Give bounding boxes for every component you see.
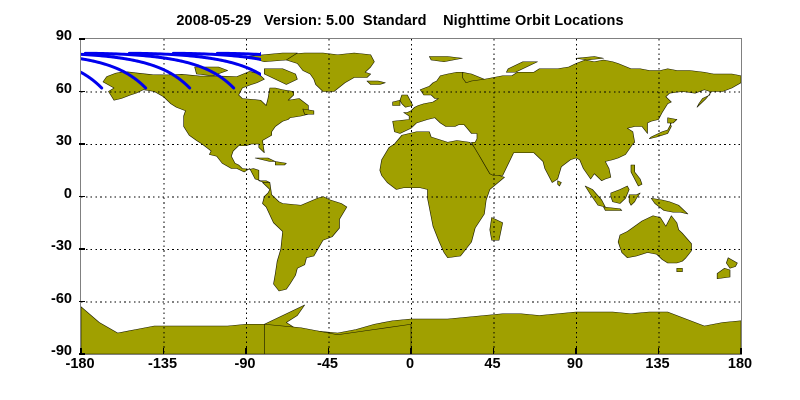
x-axis-tick-label--90: -90 — [205, 356, 285, 372]
x-axis-tick-label-45: 45 — [453, 356, 533, 372]
y-axis-tick-label-60: 60 — [8, 81, 72, 97]
x-axis-tick-mark-180 — [740, 348, 742, 354]
y-axis-tick-label--60: -60 — [8, 291, 72, 307]
x-axis-tick-mark-90 — [575, 348, 577, 354]
y-axis-tick-mark-60 — [79, 91, 85, 93]
y-axis-tick-mark-30 — [79, 143, 85, 145]
x-axis-tick-label-0: 0 — [370, 356, 450, 372]
x-axis-tick-mark-45 — [493, 348, 495, 354]
y-axis-tick-label-30: 30 — [8, 133, 72, 149]
x-axis-tick-label--135: -135 — [123, 356, 203, 372]
plot-inner — [81, 39, 741, 354]
orbit-track-1 — [81, 65, 102, 88]
figure-title: 2008-05-29 Version: 5.00 Standard Nightt… — [0, 13, 800, 29]
x-axis-tick-mark--180 — [80, 348, 82, 354]
x-axis-tick-mark-0 — [410, 348, 412, 354]
x-axis-tick-label--45: -45 — [288, 356, 368, 372]
x-axis-tick-label-135: 135 — [618, 356, 698, 372]
y-axis-tick-label-90: 90 — [8, 28, 72, 44]
y-axis-tick-mark--30 — [79, 248, 85, 250]
x-axis-tick-label-180: 180 — [700, 356, 780, 372]
x-axis-tick-mark--90 — [245, 348, 247, 354]
x-axis-tick-mark--45 — [328, 348, 330, 354]
y-axis-tick-mark-90 — [79, 38, 85, 40]
y-axis-tick-mark--60 — [79, 301, 85, 303]
orbit-map-figure: 2008-05-29 Version: 5.00 Standard Nightt… — [0, 0, 800, 400]
x-axis-tick-mark--135 — [163, 348, 165, 354]
y-axis-tick-label-0: 0 — [8, 186, 72, 202]
y-axis-tick-mark-0 — [79, 196, 85, 198]
x-axis-tick-mark-135 — [658, 348, 660, 354]
x-axis-tick-label--180: -180 — [40, 356, 120, 372]
plot-frame — [80, 38, 742, 355]
y-axis-tick-label--30: -30 — [8, 238, 72, 254]
x-axis-tick-label-90: 90 — [535, 356, 615, 372]
